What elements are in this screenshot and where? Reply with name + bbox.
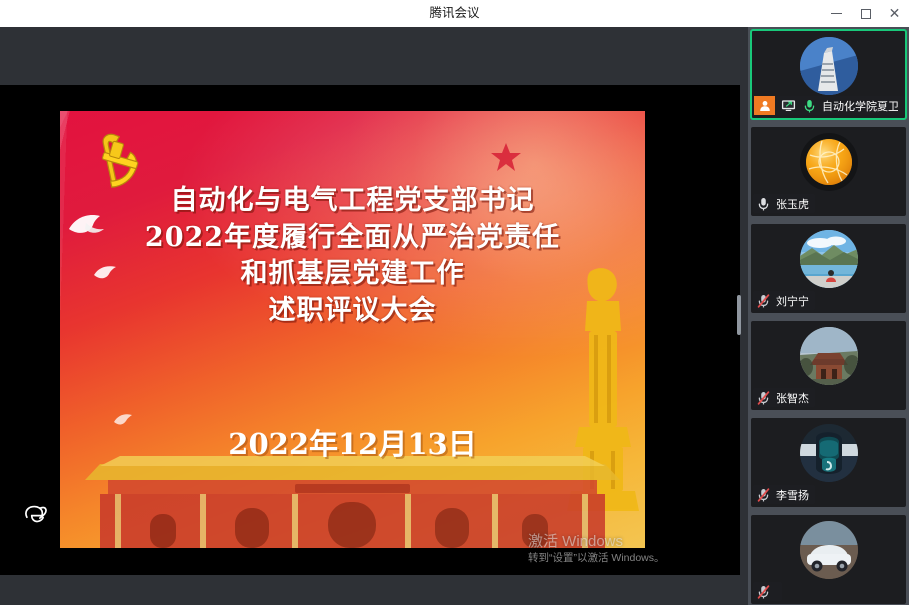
participant-name: 刘宁宁: [776, 293, 809, 309]
avatar: [800, 37, 858, 95]
participant-name-bar: 刘宁宁: [753, 291, 815, 310]
window-title: 腾讯会议: [0, 0, 909, 27]
participant-name-bar: 张玉虎: [753, 194, 815, 213]
title-bar: 腾讯会议 ✕: [0, 0, 909, 28]
lake-photo-icon: [800, 230, 858, 288]
participant-tile-4[interactable]: 张智杰: [750, 320, 907, 411]
watermark-subtitle: 转到“设置”以激活 Windows。: [528, 551, 738, 566]
helmet-photo-icon: [800, 424, 858, 482]
participant-name-bar: 李雪扬: [753, 485, 815, 504]
minimize-button[interactable]: [822, 0, 851, 27]
microphone-muted-icon: [757, 585, 770, 599]
red-star-icon: [490, 141, 522, 173]
avatar: [800, 230, 858, 288]
participant-name: 张玉虎: [776, 196, 809, 212]
host-badge: [754, 96, 775, 115]
participant-tile-1[interactable]: 自动化学院夏卫...: [750, 29, 907, 120]
internet-explorer-icon[interactable]: [22, 501, 48, 527]
microphone-muted-icon: [757, 294, 770, 308]
screen-share-icon: [781, 98, 796, 113]
participant-name-bar: [753, 582, 782, 601]
basketball-photo-icon: [800, 133, 858, 191]
close-button[interactable]: ✕: [880, 0, 909, 27]
participant-tile-6[interactable]: [750, 514, 907, 605]
meeting-body: 自动化与电气工程党支部书记 2022年度履行全面从严治党责任 和抓基层党建工作 …: [0, 27, 909, 605]
participant-name: 自动化学院夏卫...: [822, 98, 898, 114]
avatar: [800, 133, 858, 191]
microphone-muted-icon: [757, 391, 770, 405]
temple-photo-icon: [800, 327, 858, 385]
slide-line-2: 2022年度履行全面从严治党责任: [60, 220, 645, 257]
participant-name-bar: 自动化学院夏卫...: [754, 96, 904, 115]
host-person-icon: [759, 100, 771, 112]
avatar: [800, 424, 858, 482]
presentation-slide: 自动化与电气工程党支部书记 2022年度履行全面从严治党责任 和抓基层党建工作 …: [60, 111, 645, 548]
slide-headline: 自动化与电气工程党支部书记 2022年度履行全面从严治党责任 和抓基层党建工作 …: [60, 183, 645, 330]
shared-screen-stage[interactable]: 自动化与电气工程党支部书记 2022年度履行全面从严治党责任 和抓基层党建工作 …: [0, 85, 740, 575]
avatar: [800, 521, 858, 579]
microphone-icon: [757, 197, 770, 211]
tencent-meeting-window: 腾讯会议 ✕: [0, 0, 909, 605]
slide-line-1: 自动化与电气工程党支部书记: [60, 183, 645, 220]
stage-scrollbar-thumb[interactable]: [737, 295, 741, 335]
building-photo-icon: [800, 37, 858, 95]
slide-line-4: 述职评议大会: [60, 293, 645, 330]
slide-date: 2022年12月13日: [60, 421, 645, 463]
participant-tile-5[interactable]: 李雪扬: [750, 417, 907, 508]
participant-tile-2[interactable]: 张玉虎: [750, 126, 907, 217]
avatar: [800, 327, 858, 385]
close-icon: ✕: [889, 7, 901, 21]
microphone-icon-live: [803, 99, 816, 113]
microphone-muted-icon: [757, 488, 770, 502]
participant-tile-3[interactable]: 刘宁宁: [750, 223, 907, 314]
participant-roster[interactable]: 自动化学院夏卫...: [748, 27, 909, 605]
stage-scrollbar[interactable]: [736, 85, 742, 575]
participant-name: 张智杰: [776, 390, 809, 406]
slide-line-3: 和抓基层党建工作: [60, 256, 645, 293]
window-controls: ✕: [822, 0, 909, 27]
participant-name-bar: 张智杰: [753, 388, 815, 407]
car-photo-icon: [800, 521, 858, 579]
maximize-button[interactable]: [851, 0, 880, 27]
participant-name: 李雪扬: [776, 487, 809, 503]
